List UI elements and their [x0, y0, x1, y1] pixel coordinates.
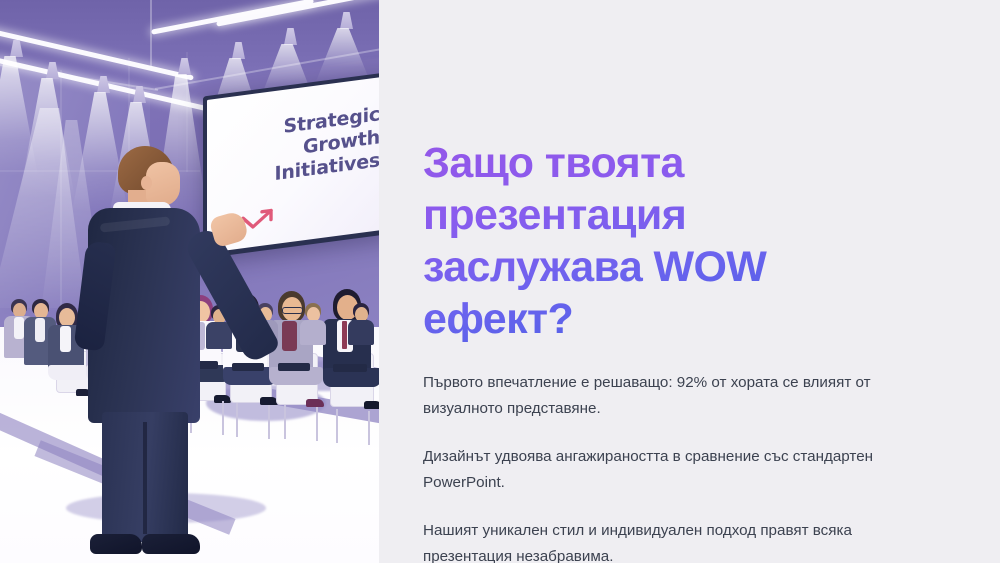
presenter-gesturing-hand: [209, 210, 250, 248]
presenter-figure: [86, 146, 246, 563]
tablet: [278, 363, 310, 371]
shirt: [14, 317, 24, 339]
chair-leg: [284, 405, 286, 439]
torso: [348, 320, 374, 345]
torso: [300, 320, 326, 345]
body-paragraph-1: Първото впечатление е решаващо: 92% от х…: [423, 370, 893, 422]
shirt: [35, 318, 45, 342]
chair-leg: [336, 409, 338, 443]
chair-leg: [316, 407, 318, 441]
audience-member: [348, 303, 374, 345]
chair-leg: [268, 405, 270, 439]
screen-headline: Strategic Growth Initiatives: [274, 103, 379, 186]
slide-headline: Защо твоята презентация заслужава WOW еф…: [423, 137, 908, 345]
tablet: [333, 364, 367, 372]
presentation-slide: Strategic Growth Initiatives: [0, 0, 1000, 563]
body-paragraph-2: Дизайнът удвоява ангажираността в сравне…: [423, 444, 893, 496]
presenter-shoe-right: [142, 534, 200, 554]
presenter-shoe-left: [90, 534, 142, 554]
conference-room-illustration: Strategic Growth Initiatives: [0, 0, 379, 563]
body-paragraph-3: Нашият уникален стил и индивидуален подх…: [423, 518, 893, 563]
audience-member: [300, 303, 326, 345]
inner-top: [282, 321, 297, 351]
slide-body-text: Първото впечатление е решаващо: 92% от х…: [423, 370, 908, 563]
presenter-ear: [141, 176, 152, 190]
slide-content-panel: Защо твоята презентация заслужава WOW еф…: [379, 0, 1000, 563]
presenter-trouser-seam: [143, 422, 147, 534]
shirt: [60, 326, 71, 352]
high-heel-shoe: [364, 401, 379, 409]
chair-leg: [368, 411, 370, 445]
necktie: [342, 321, 347, 349]
